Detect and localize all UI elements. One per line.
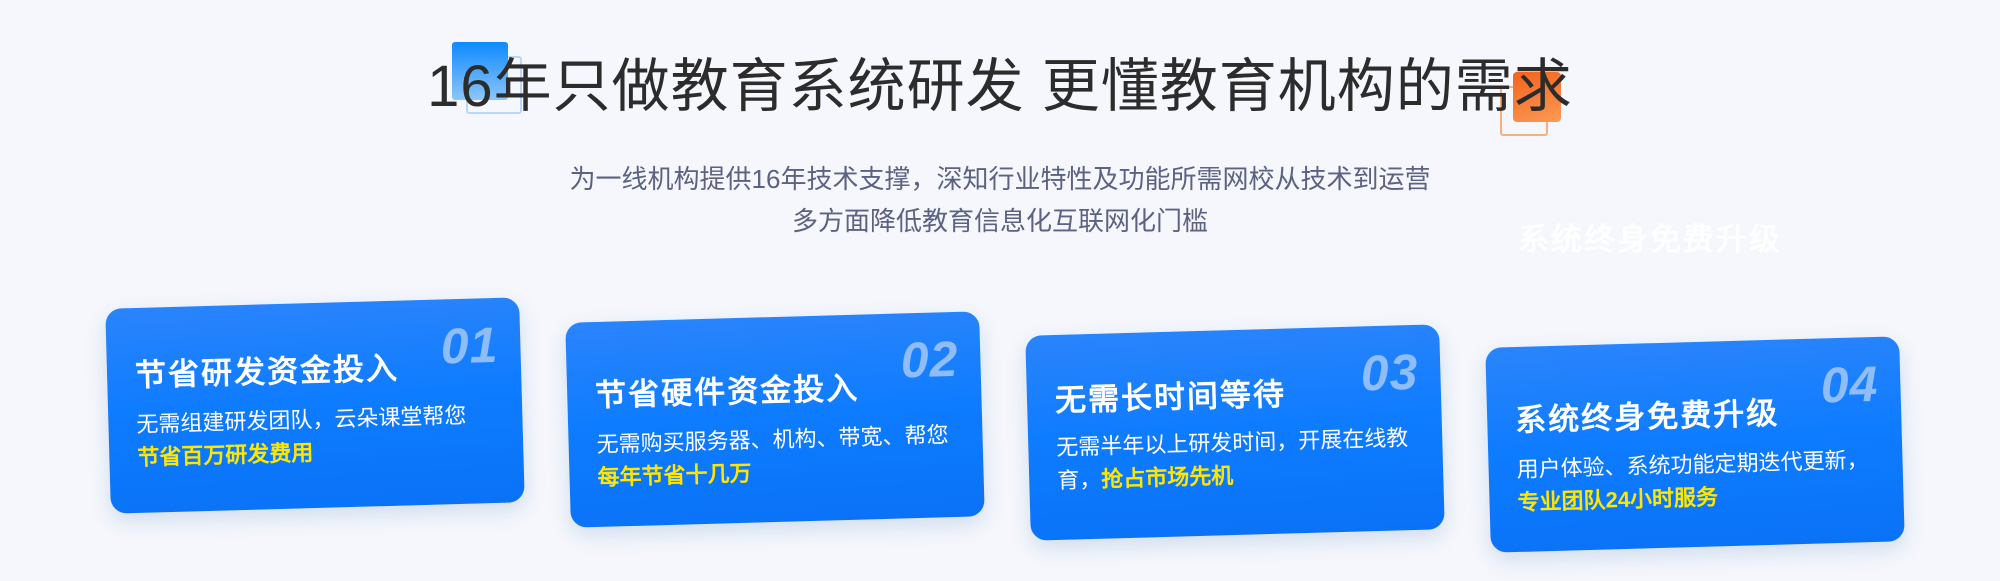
- card-description: 无需半年以上研发时间，开展在线教育，抢占市场先机: [1056, 421, 1426, 497]
- card-description: 无需购买服务器、机构、带宽、帮您 每年节省十几万: [596, 418, 966, 494]
- feature-card[interactable]: 01 节省研发资金投入 无需组建研发团队，云朵课堂帮您 节省百万研发费用: [105, 297, 525, 513]
- card-description-highlight: 专业团队24小时服务: [1517, 484, 1718, 515]
- card-number: 04: [1820, 359, 1879, 411]
- card-title: 无需长时间等待: [1054, 369, 1286, 420]
- card-description-plain: 无需组建研发团队，云朵课堂帮您: [136, 403, 467, 437]
- card-title: 节省硬件资金投入: [595, 363, 860, 415]
- card-description: 用户体验、系统功能定期迭代更新， 专业团队24小时服务: [1516, 443, 1886, 519]
- card-description-plain: 用户体验、系统功能定期迭代更新，: [1516, 447, 1869, 482]
- card-description-plain: 无需购买服务器、机构、带宽、帮您: [596, 422, 949, 457]
- feature-card[interactable]: 02 节省硬件资金投入 无需购买服务器、机构、带宽、帮您 每年节省十几万: [565, 311, 985, 527]
- feature-card[interactable]: 04 系统终身免费升级 用户体验、系统功能定期迭代更新， 专业团队24小时服务: [1485, 336, 1905, 552]
- card-number: 02: [900, 334, 959, 386]
- card-description-highlight: 抢占市场先机: [1101, 463, 1234, 492]
- feature-card-list: 01 节省研发资金投入 无需组建研发团队，云朵课堂帮您 节省百万研发费用 02 …: [0, 0, 2000, 581]
- card-number: 01: [440, 320, 499, 372]
- card-title: 系统终身免费升级: [1515, 388, 1780, 440]
- card-description-highlight: 节省百万研发费用: [137, 440, 314, 470]
- card-description-highlight: 每年节省十几万: [597, 461, 752, 490]
- card-description: 无需组建研发团队，云朵课堂帮您 节省百万研发费用: [136, 398, 506, 474]
- feature-card[interactable]: 03 无需长时间等待 无需半年以上研发时间，开展在线教育，抢占市场先机: [1025, 324, 1445, 540]
- card-title: 节省研发资金投入: [134, 343, 399, 395]
- card-number: 03: [1360, 347, 1419, 399]
- feature-banner: 16年只做教育系统研发 更懂教育机构的需求 为一线机构提供16年技术支撑，深知行…: [0, 0, 2000, 581]
